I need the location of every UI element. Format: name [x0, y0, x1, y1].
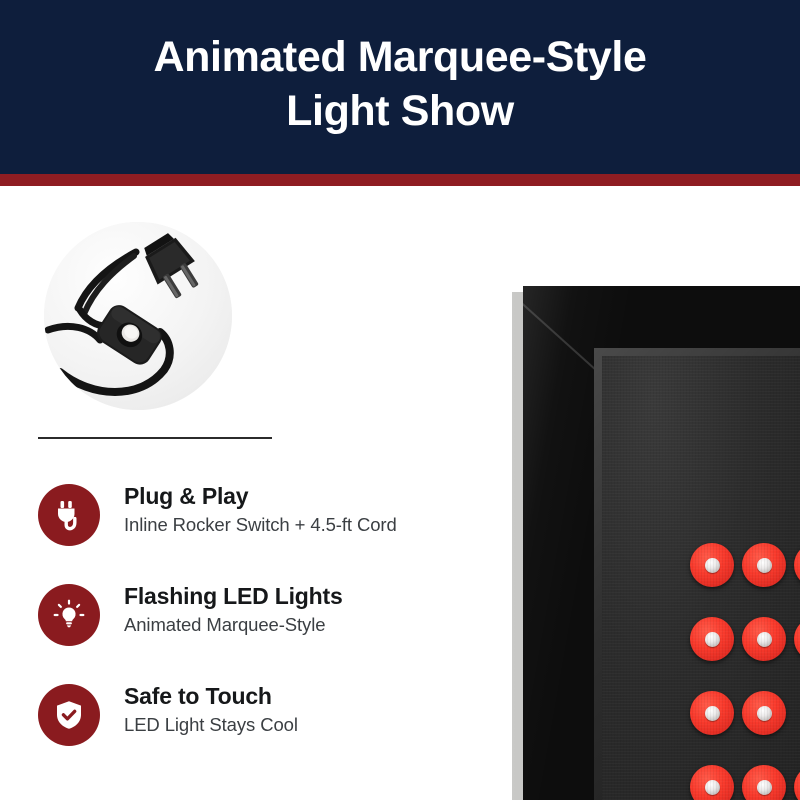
led-bulb: [794, 543, 800, 587]
led-bulb: [690, 543, 734, 587]
cord-photo-inset: [44, 222, 232, 410]
power-plug-icon: [38, 484, 100, 546]
feature-subtitle: LED Light Stays Cool: [124, 712, 468, 738]
product-photo-marquee-sign: [506, 286, 800, 800]
page-title: Animated Marquee-Style Light Show: [0, 30, 800, 138]
led-bulb: [690, 617, 734, 661]
section-divider: [38, 437, 272, 439]
shield-check-icon: [38, 684, 100, 746]
infographic-page: Animated Marquee-Style Light Show: [0, 0, 800, 800]
led-bulb: [794, 765, 800, 800]
feature-subtitle: Inline Rocker Switch + 4.5-ft Cord: [124, 512, 468, 538]
feature-item-flashing-led-lights: Flashing LED Lights Animated Marquee-Sty…: [38, 582, 468, 654]
feature-subtitle: Animated Marquee-Style: [124, 612, 468, 638]
feature-item-plug-and-play: Plug & Play Inline Rocker Switch + 4.5-f…: [38, 482, 468, 554]
led-bulb: [690, 691, 734, 735]
led-bulb: [742, 543, 786, 587]
led-bulb: [690, 765, 734, 800]
led-bulb: [742, 691, 786, 735]
header-accent-stripe: [0, 174, 800, 186]
feature-item-safe-to-touch: Safe to Touch LED Light Stays Cool: [38, 682, 468, 754]
feature-text-block: Safe to Touch LED Light Stays Cool: [124, 682, 468, 738]
power-cord-photo-illustration: [44, 222, 232, 410]
led-bulb: [742, 617, 786, 661]
light-bulb-icon: [38, 584, 100, 646]
led-bulb: [794, 617, 800, 661]
feature-title: Plug & Play: [124, 482, 468, 511]
sign-face-panel: [602, 356, 800, 800]
feature-title: Flashing LED Lights: [124, 582, 468, 611]
led-bulb: [742, 765, 786, 800]
feature-text-block: Flashing LED Lights Animated Marquee-Sty…: [124, 582, 468, 638]
feature-text-block: Plug & Play Inline Rocker Switch + 4.5-f…: [124, 482, 468, 538]
feature-title: Safe to Touch: [124, 682, 468, 711]
